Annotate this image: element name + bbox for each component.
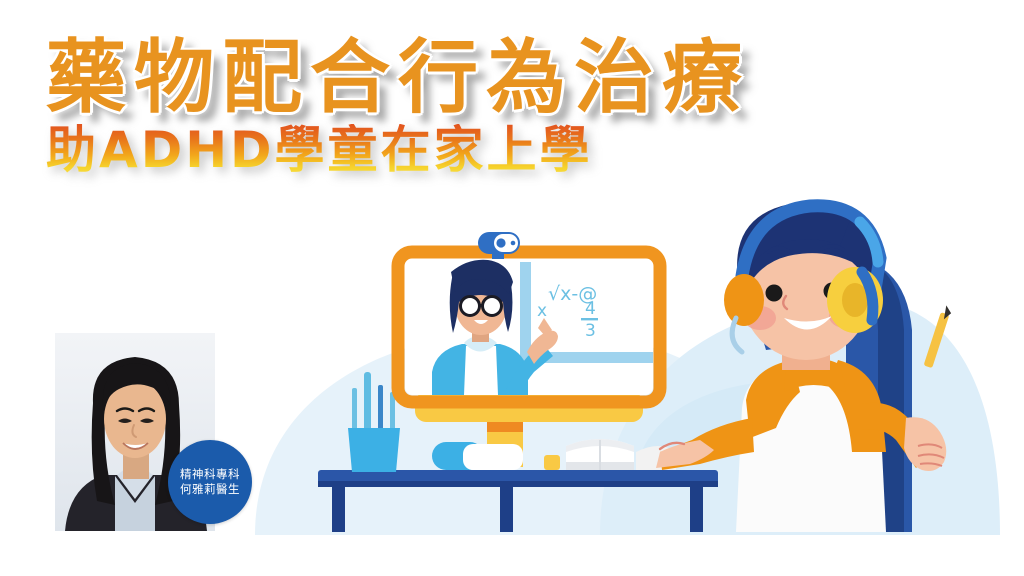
badge-specialty: 精神科專科	[180, 467, 240, 482]
doctor-credential-badge: 精神科專科 何雅莉醫生	[168, 440, 252, 524]
svg-text:x: x	[537, 301, 547, 321]
poster-canvas: √x-@ x 4 3	[0, 0, 1024, 576]
badge-doctor-name: 何雅莉醫生	[180, 482, 240, 497]
svg-text:4: 4	[585, 299, 596, 319]
svg-text:3: 3	[585, 321, 596, 341]
